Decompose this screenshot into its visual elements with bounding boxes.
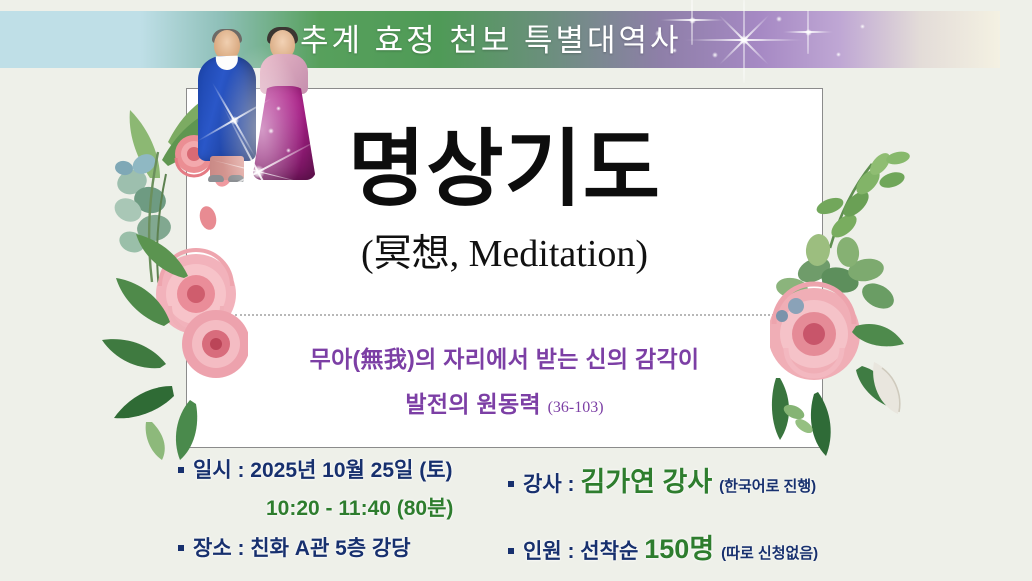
page-subtitle: (冥想, Meditation) [187, 235, 822, 273]
detail-capacity-label: 인원 : 선착순 [523, 535, 638, 565]
detail-time: 10:20 - 11:40 (80분) [266, 492, 508, 522]
bullet-icon [508, 548, 514, 554]
detail-speaker-name: 김가연 강사 [580, 460, 712, 499]
couple-photo [196, 0, 316, 180]
quote-line-1: 무아(無我)의 자리에서 받는 신의 감각이 [187, 337, 822, 382]
quote-line-2: 발전의 원동력 (36-103) [187, 382, 822, 427]
detail-speaker: 강사 : 김가연 강사 (한국어로 진행) [508, 460, 908, 499]
detail-capacity: 인원 : 선착순 150명 (따로 신청없음) [508, 527, 908, 566]
quote-block: 무아(無我)의 자리에서 받는 신의 감각이 발전의 원동력 (36-103) [187, 337, 822, 427]
details-column-left: 일시 : 2025년 10월 25일 (토) 10:20 - 11:40 (80… [178, 454, 508, 564]
quote-line-2-text: 발전의 원동력 [405, 391, 540, 417]
banner-title: 추계 효정 천보 특별대역사 [300, 15, 682, 60]
detail-place-text: 장소 : 친화 A관 5층 강당 [193, 532, 411, 562]
detail-time-text: 10:20 - 11:40 (80분) [266, 492, 453, 522]
person-man-hanbok [198, 30, 256, 180]
person-woman-hanbok [250, 24, 316, 180]
detail-date: 일시 : 2025년 10월 25일 (토) [178, 454, 508, 484]
bullet-icon [178, 545, 184, 551]
detail-speaker-note: (한국어로 진행) [719, 475, 816, 496]
event-details: 일시 : 2025년 10월 25일 (토) 10:20 - 11:40 (80… [0, 452, 1032, 581]
detail-place: 장소 : 친화 A관 5층 강당 [178, 532, 508, 562]
details-column-right: 강사 : 김가연 강사 (한국어로 진행) 인원 : 선착순 150명 (따로 … [508, 460, 908, 568]
quote-reference: (36-103) [548, 399, 604, 416]
bullet-icon [508, 481, 514, 487]
detail-capacity-note: (따로 신청없음) [721, 542, 818, 563]
detail-date-text: 일시 : 2025년 10월 25일 (토) [193, 454, 453, 484]
detail-speaker-label: 강사 : [523, 468, 574, 498]
divider [235, 314, 774, 316]
poster-root: 추계 효정 천보 특별대역사 명상기도 (冥想, Meditation) 무아(… [0, 0, 1032, 581]
detail-capacity-value: 150명 [644, 527, 714, 566]
bullet-icon [178, 467, 184, 473]
